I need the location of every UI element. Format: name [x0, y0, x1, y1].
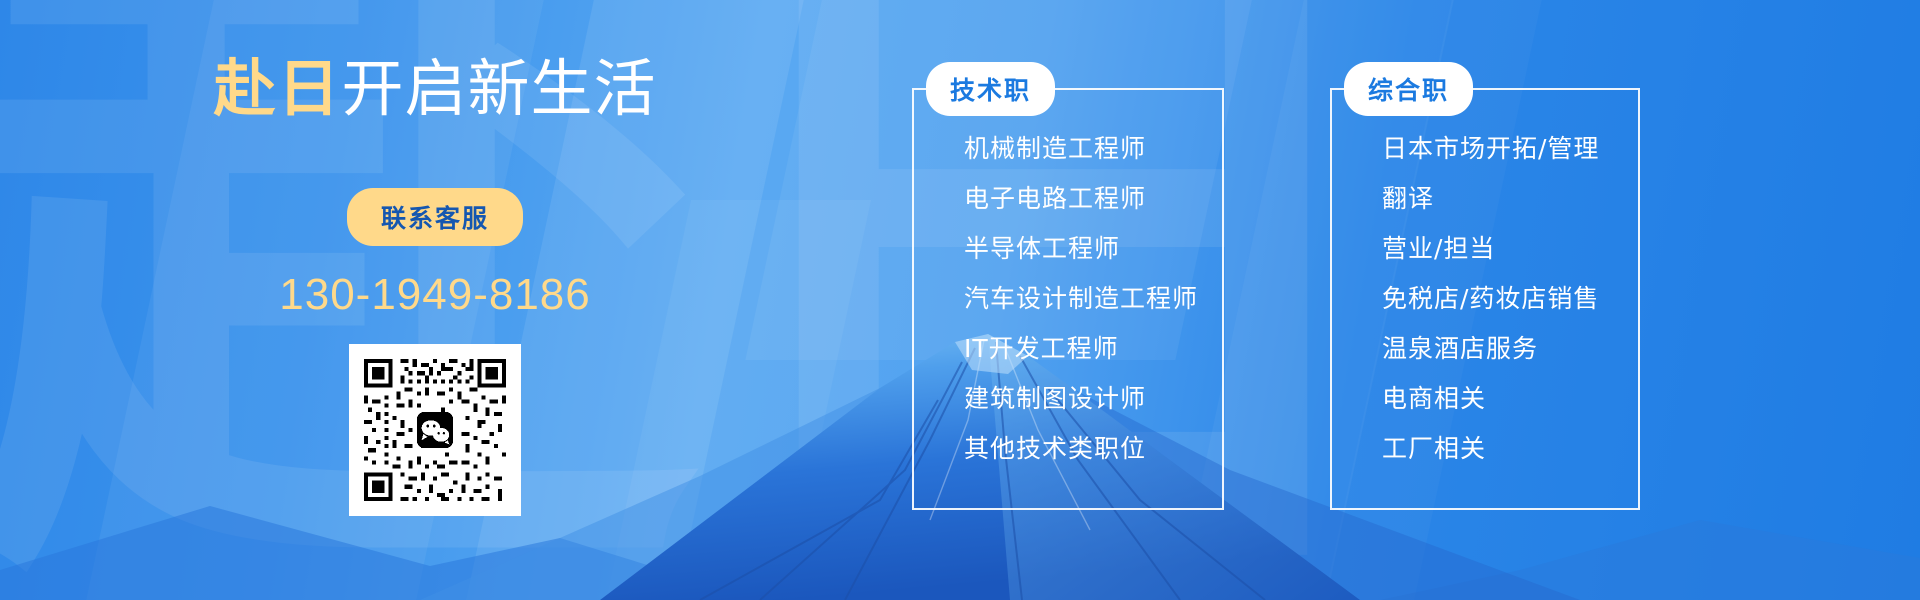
job-item[interactable]: 汽车设计制造工程师: [964, 274, 1214, 324]
job-item[interactable]: 机械制造工程师: [964, 124, 1214, 174]
category-card-tech: 技术职 机械制造工程师 电子电路工程师 半导体工程师 汽车设计制造工程师 IT开…: [912, 62, 1224, 510]
headline-rest: 开启新生活: [342, 52, 657, 125]
left-content-column: 赴日开启新生活 联系客服 130-1949-8186: [150, 40, 720, 560]
contact-support-button[interactable]: 联系客服: [347, 188, 523, 246]
job-item[interactable]: 日本市场开拓/管理: [1382, 124, 1630, 174]
category-card-general: 综合职 日本市场开拓/管理 翻译 营业/担当 免税店/药妆店销售 温泉酒店服务 …: [1330, 62, 1640, 510]
job-item[interactable]: 工厂相关: [1382, 424, 1630, 474]
job-item[interactable]: 建筑制图设计师: [964, 374, 1214, 424]
headline-accent: 赴日: [213, 52, 341, 125]
job-item[interactable]: 免税店/药妆店销售: [1382, 274, 1630, 324]
job-item[interactable]: IT开发工程师: [964, 324, 1214, 374]
wechat-qr-code[interactable]: [349, 344, 521, 516]
phone-number: 130-1949-8186: [279, 270, 590, 320]
category-badge-general: 综合职: [1344, 62, 1473, 116]
job-item[interactable]: 电子电路工程师: [964, 174, 1214, 224]
qr-code-icon: [360, 355, 510, 505]
category-badge-tech: 技术职: [926, 62, 1055, 116]
recruitment-banner: 赴日: [0, 0, 1920, 600]
job-item[interactable]: 电商相关: [1382, 374, 1630, 424]
job-item[interactable]: 营业/担当: [1382, 224, 1630, 274]
page-title: 赴日开启新生活: [213, 58, 656, 120]
job-item[interactable]: 其他技术类职位: [964, 424, 1214, 474]
job-list-general: 日本市场开拓/管理 翻译 营业/担当 免税店/药妆店销售 温泉酒店服务 电商相关…: [1382, 124, 1630, 474]
job-list-tech: 机械制造工程师 电子电路工程师 半导体工程师 汽车设计制造工程师 IT开发工程师…: [964, 124, 1214, 474]
job-item[interactable]: 温泉酒店服务: [1382, 324, 1630, 374]
job-item[interactable]: 翻译: [1382, 174, 1630, 224]
job-item[interactable]: 半导体工程师: [964, 224, 1214, 274]
